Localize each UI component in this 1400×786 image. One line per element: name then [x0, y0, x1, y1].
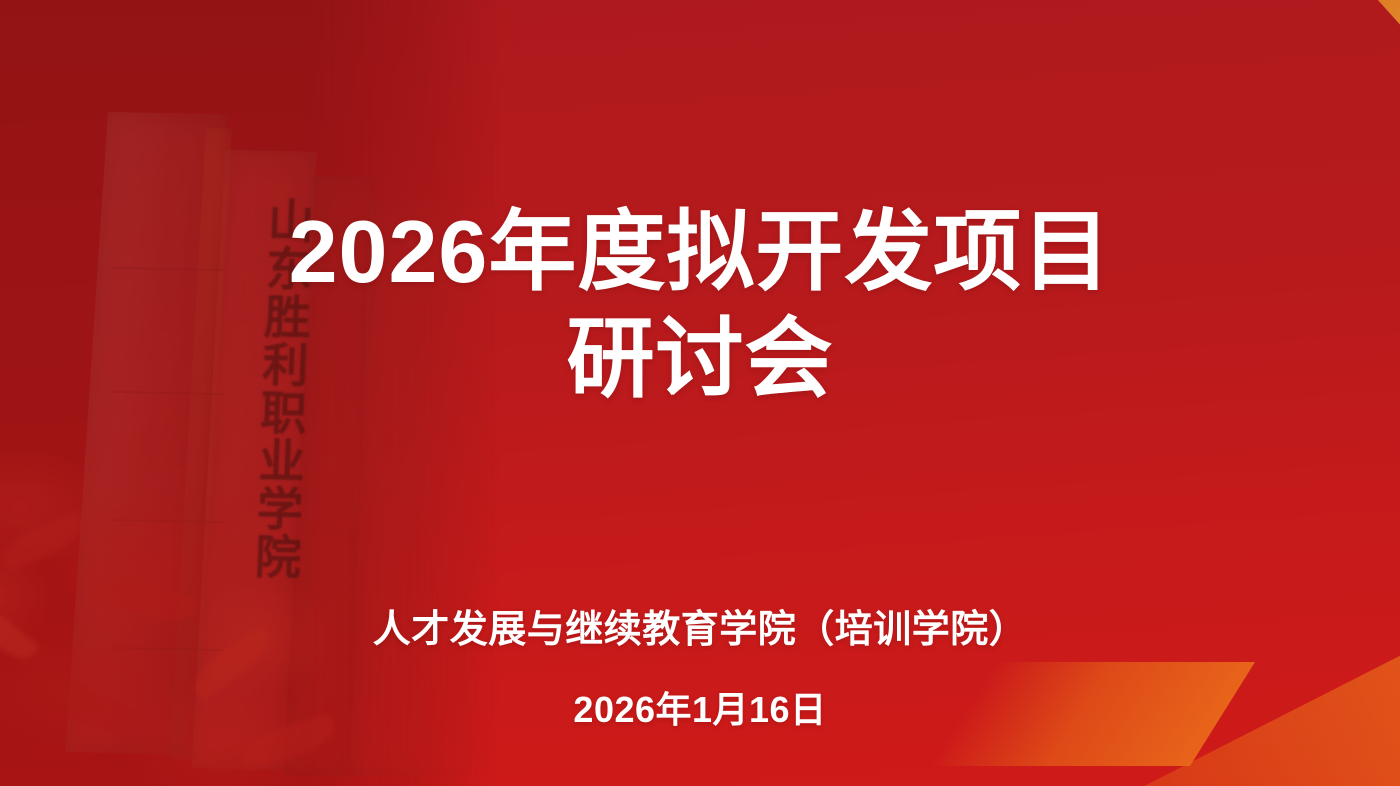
presentation-title-slide: 山东胜利职业学院 2026年度拟开发项目 研讨会 人才发展与继续教育学院（培训学…	[0, 0, 1400, 786]
photo-inner: 山东胜利职业学院	[0, 0, 500, 786]
monument-calligraphy-text: 山东胜利职业学院	[226, 196, 313, 581]
campus-monument-photo: 山东胜利职业学院	[0, 0, 500, 786]
